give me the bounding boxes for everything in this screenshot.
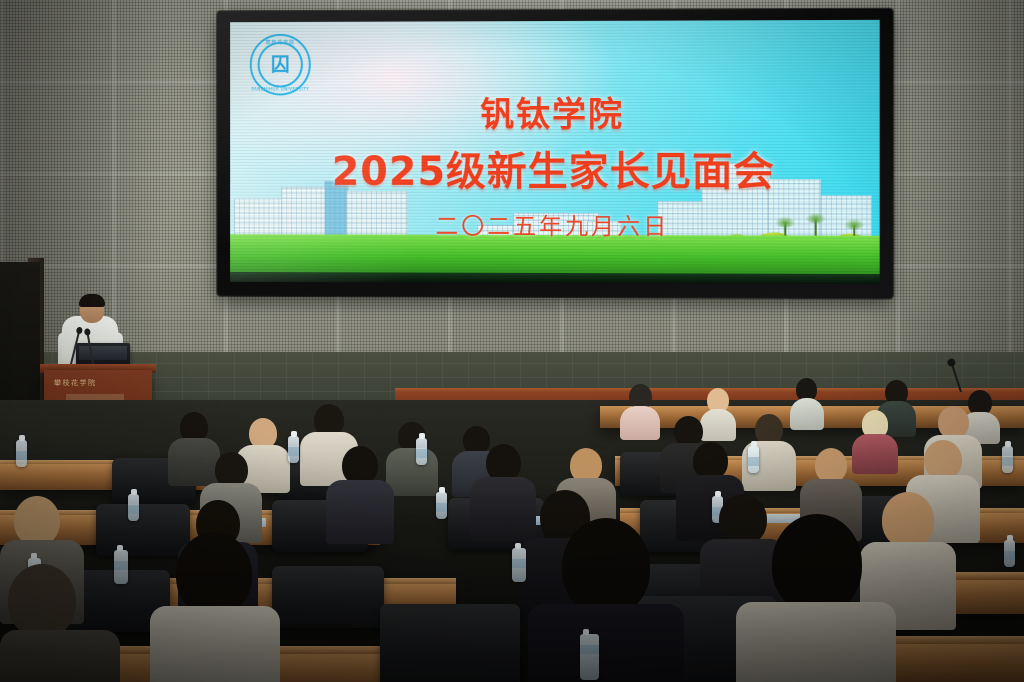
water-bottle[interactable] — [416, 438, 427, 465]
audience-member-foreground — [150, 532, 280, 682]
audience-member-foreground — [528, 518, 684, 682]
audience-member — [326, 446, 394, 540]
audience-member-foreground — [0, 564, 120, 682]
auditorium-scene: 攀枝花学院 囚 PANZHIHUA UNIVERSITY 钒钛学院 2025级新… — [0, 0, 1024, 682]
water-bottle[interactable] — [512, 548, 526, 582]
slide-text-block: 钒钛学院 2025级新生家长见面会 二〇二五年九月六日 — [230, 20, 880, 284]
audience-area — [0, 400, 1024, 682]
water-bottle-foreground[interactable] — [580, 634, 599, 680]
led-screen-bezel[interactable]: 攀枝花学院 囚 PANZHIHUA UNIVERSITY 钒钛学院 2025级新… — [217, 9, 893, 299]
slide-title-line-1: 钒钛学院 — [230, 86, 880, 136]
podium-engraved-text: 攀枝花学院 — [54, 378, 97, 388]
presenter-laptop[interactable] — [76, 343, 130, 365]
water-bottle[interactable] — [1004, 540, 1015, 567]
water-bottle[interactable] — [16, 440, 27, 467]
water-bottle[interactable] — [1002, 446, 1013, 473]
water-bottle[interactable] — [128, 494, 139, 521]
water-bottle[interactable] — [288, 436, 299, 463]
presenter-hair — [79, 294, 105, 307]
audience-member-foreground — [736, 514, 896, 682]
audience-member — [620, 384, 660, 438]
led-screen-surface: 攀枝花学院 囚 PANZHIHUA UNIVERSITY 钒钛学院 2025级新… — [230, 20, 880, 284]
slide-title-line-2: 2025级新生家长见面会 — [230, 139, 880, 198]
slide-date: 二〇二五年九月六日 — [230, 207, 880, 242]
water-bottle[interactable] — [748, 446, 759, 473]
water-bottle[interactable] — [436, 492, 447, 519]
